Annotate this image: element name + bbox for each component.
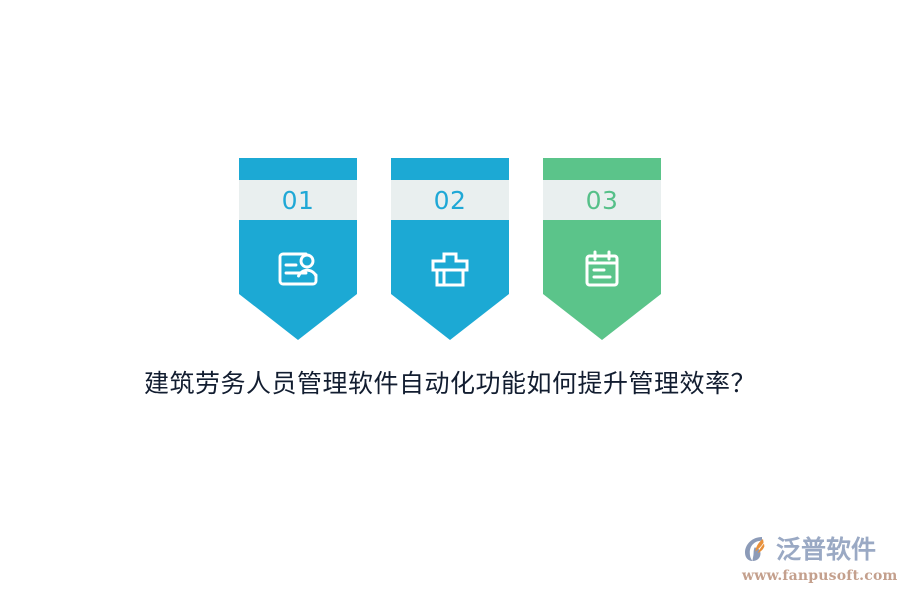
banner-number-label: 01 [282, 188, 315, 213]
brand-name: 泛普软件 [776, 537, 876, 562]
poster-canvas: 01 02 [0, 0, 900, 600]
banner-item-03[interactable]: 03 [543, 158, 661, 340]
calendar-note-icon [543, 238, 661, 300]
brand-url: www.fanpusoft.com [742, 568, 888, 584]
banner-item-02[interactable]: 02 [391, 158, 509, 340]
brand-watermark: 泛普软件 www.fanpusoft.com [742, 532, 888, 586]
page-title: 建筑劳务人员管理软件自动化功能如何提升管理效率？ [0, 368, 900, 399]
id-card-person-icon [239, 238, 357, 300]
banner-number-band: 03 [543, 180, 661, 220]
banner-row: 01 02 [0, 158, 900, 343]
brand-watermark-row: 泛普软件 [742, 532, 888, 566]
banner-item-01[interactable]: 01 [239, 158, 357, 340]
banner-number-label: 03 [586, 188, 619, 213]
banner-number-label: 02 [434, 188, 467, 213]
fanpu-logo-icon [742, 534, 772, 564]
storefront-icon [391, 238, 509, 300]
banner-number-band: 01 [239, 180, 357, 220]
banner-number-band: 02 [391, 180, 509, 220]
